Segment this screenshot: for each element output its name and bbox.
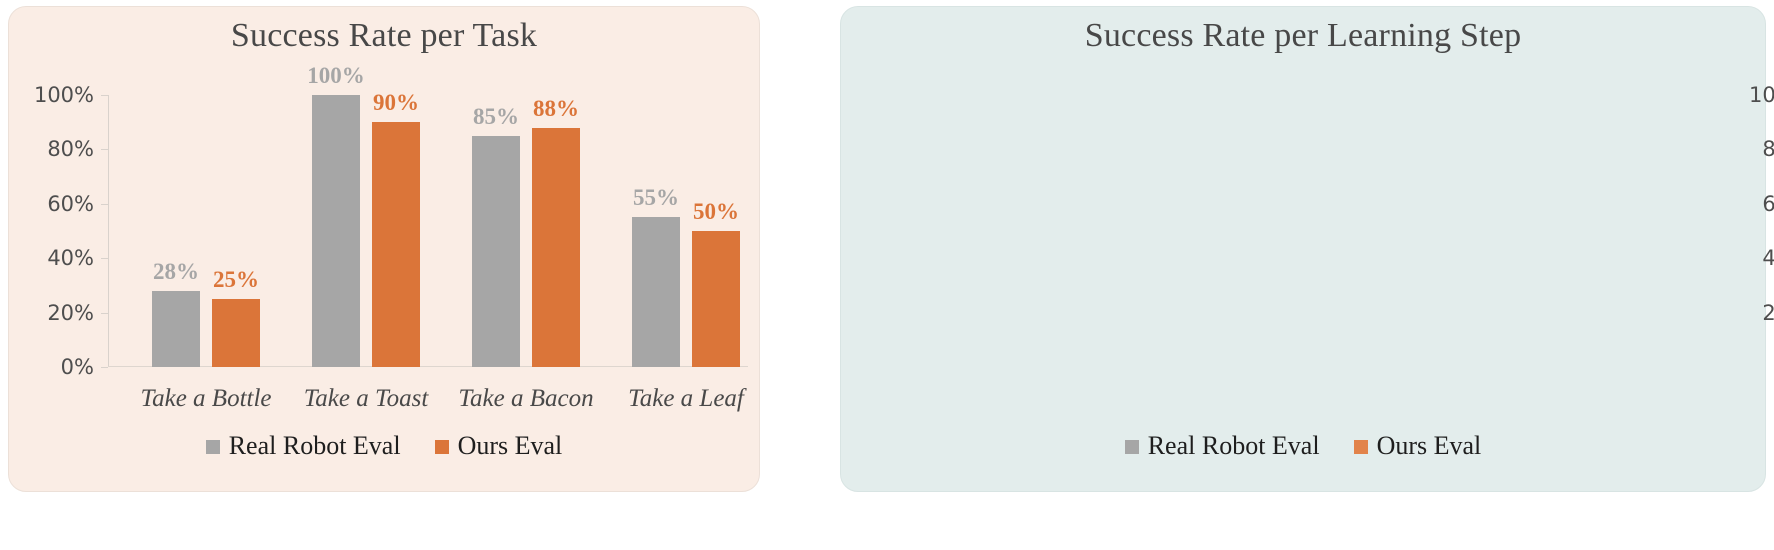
bar-value-label: 55% [633, 185, 679, 211]
bar-real-robot-eval[interactable]: 28% [152, 291, 200, 367]
bar-ours-eval[interactable]: 50% [692, 231, 740, 367]
bar-real-robot-eval[interactable]: 85% [472, 136, 520, 367]
bar-value-label: 88% [533, 96, 579, 122]
y-axis-tick-label: 0% [61, 355, 94, 379]
bar-ours-eval[interactable]: 90% [372, 122, 420, 367]
legend-label: Ours Eval [1377, 431, 1482, 461]
y-axis-tick-label: 100% [1749, 83, 1774, 107]
bar-ours-eval[interactable]: 88% [532, 128, 580, 367]
bar-real-robot-eval[interactable]: 100% [312, 95, 360, 367]
bar-value-label: 85% [473, 104, 519, 130]
legend-item-real-robot-eval[interactable]: Real Robot Eval [1125, 431, 1320, 461]
bar-group: 28%25%Take a Bottle [108, 95, 268, 367]
bar-value-label: 25% [213, 267, 259, 293]
legend-swatch-icon-gray [1125, 440, 1139, 454]
x-axis-category-label: Take a Leaf [628, 385, 744, 413]
bar-real-robot-eval[interactable]: 55% [632, 217, 680, 367]
y-axis-tick-label: 20% [1762, 301, 1774, 325]
bar-value-label: 100% [307, 63, 365, 89]
y-axis-tick-label: 20% [47, 301, 94, 325]
legend-swatch-icon-orange [435, 440, 449, 454]
y-axis-tick-label: 60% [47, 192, 94, 216]
y-axis-tick-label: 80% [1762, 137, 1774, 161]
chart-title-task: Success Rate per Task [9, 17, 759, 55]
chart-title-learning-step: Success Rate per Learning Step [841, 17, 1765, 55]
figure-root: Success Rate per Task 0%20%40%60%80%100%… [0, 0, 1774, 550]
x-axis-category-label: Take a Bottle [140, 385, 271, 413]
y-axis-tick-label: 100% [34, 83, 94, 107]
bar-ours-eval[interactable]: 25% [212, 299, 260, 367]
bar-value-label: 50% [693, 199, 739, 225]
bar-value-label: 90% [373, 90, 419, 116]
legend-item-ours-eval[interactable]: Ours Eval [1354, 431, 1482, 461]
legend-label: Ours Eval [458, 431, 563, 461]
legend-task: Real Robot Eval Ours Eval [9, 431, 759, 461]
y-axis-tick-label: 60% [1762, 192, 1774, 216]
y-axis-tick [101, 149, 108, 150]
legend-item-real-robot-eval[interactable]: Real Robot Eval [206, 431, 401, 461]
plot-area-task: 0%20%40%60%80%100% 28%25%Take a Bottle10… [108, 95, 748, 367]
bar-group: 85%88%Take a Bacon [428, 95, 588, 367]
y-axis-tick [101, 258, 108, 259]
legend-item-ours-eval[interactable]: Ours Eval [435, 431, 563, 461]
legend-label: Real Robot Eval [229, 431, 401, 461]
chart-panel-success-rate-per-task: Success Rate per Task 0%20%40%60%80%100%… [8, 6, 760, 492]
legend-swatch-icon-gray [206, 440, 220, 454]
bar-value-label: 28% [153, 259, 199, 285]
y-axis-tick-label: 40% [1762, 246, 1774, 270]
y-axis-tick [101, 95, 108, 96]
y-axis-tick [101, 367, 108, 368]
bar-group: 100%90%Take a Toast [268, 95, 428, 367]
y-axis-tick [101, 204, 108, 205]
x-axis-category-label: Take a Toast [304, 385, 429, 413]
x-axis-category-label: Take a Bacon [458, 385, 593, 413]
y-axis-tick-label: 80% [47, 137, 94, 161]
legend-swatch-icon-orange [1354, 440, 1368, 454]
bar-group: 55%50%Take a Leaf [588, 95, 748, 367]
y-axis-tick [101, 313, 108, 314]
chart-panel-success-rate-per-learning-step: Success Rate per Learning Step 0%20%40%6… [840, 6, 1766, 492]
legend-label: Real Robot Eval [1148, 431, 1320, 461]
legend-learning-step: Real Robot Eval Ours Eval [841, 431, 1765, 461]
y-axis-tick-label: 40% [47, 246, 94, 270]
